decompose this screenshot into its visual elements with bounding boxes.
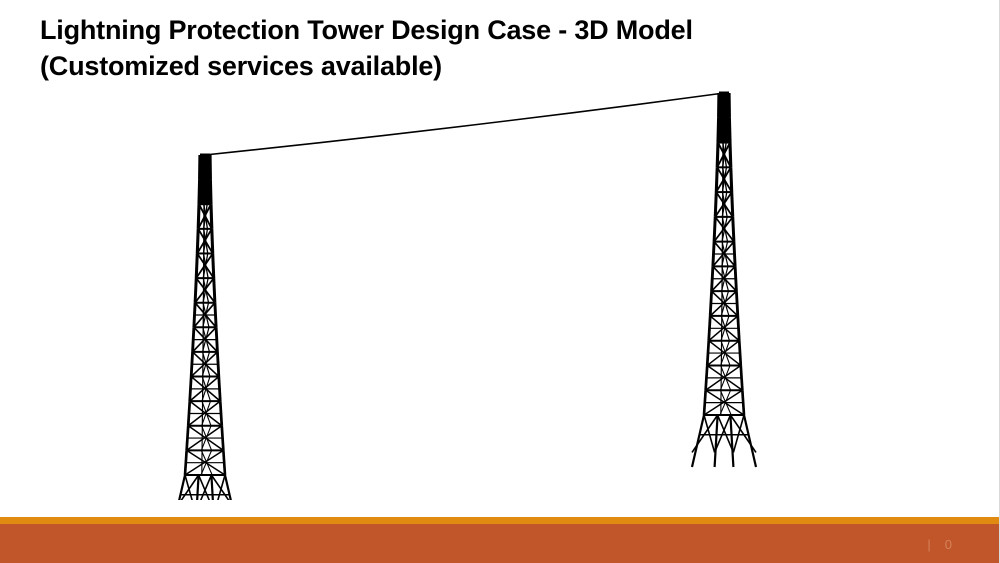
- footer-accent-stripe: [0, 517, 1000, 524]
- tower-illustration: [0, 70, 1000, 500]
- footer-meta: | 0: [927, 537, 952, 552]
- left-tower: [173, 155, 237, 500]
- slide-title-line-1: Lightning Protection Tower Design Case -…: [40, 12, 840, 48]
- presentation-slide: Lightning Protection Tower Design Case -…: [0, 0, 1000, 563]
- slide-footer: | 0: [0, 517, 1000, 563]
- shield-wire: [205, 93, 724, 155]
- lattice-tower-diagram: [0, 70, 1000, 500]
- right-tower: [692, 93, 756, 467]
- footer-page-number: 0: [945, 537, 952, 552]
- footer-band: [0, 524, 1000, 563]
- footer-separator: |: [927, 537, 930, 552]
